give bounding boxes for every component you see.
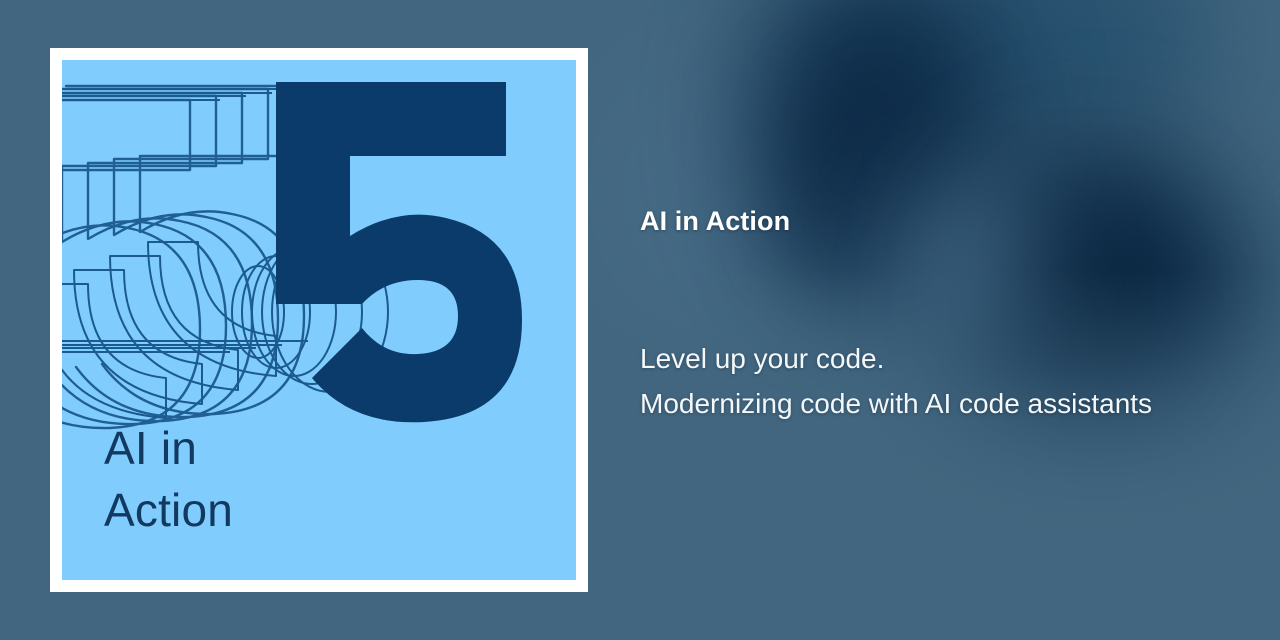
thumbnail-canvas: AI in Action — [62, 60, 576, 580]
episode-thumbnail-card[interactable]: AI in Action — [50, 48, 588, 592]
thumbnail-caption: AI in Action — [104, 417, 233, 542]
episode-title: AI in Action — [640, 206, 790, 237]
episode-meta: AI in Action Level up your code. Moderni… — [640, 0, 1240, 640]
episode-description: Level up your code. Modernizing code wit… — [640, 336, 1160, 426]
video-card-screen: AI in Action AI in Action Level up your … — [0, 0, 1280, 640]
